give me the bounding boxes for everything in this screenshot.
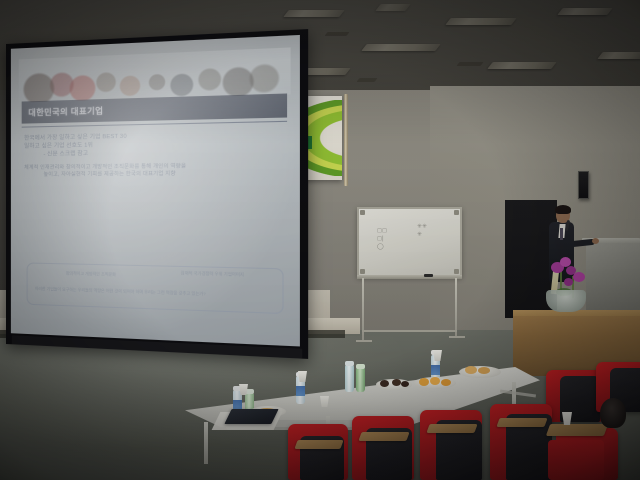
water-bottle — [356, 368, 365, 392]
flower-vase — [546, 290, 586, 312]
presentation-slide: 대한민국의 대표기업 한국에서 가장 일하고 싶은 기업 BEST 30 일하고… — [11, 35, 300, 347]
folding-tablet-arm — [294, 440, 343, 449]
whiteboard-sketch: ✳︎✳︎ ✳︎ — [417, 223, 427, 239]
whiteboard-foot — [449, 336, 465, 338]
presenter-tie — [560, 228, 563, 240]
whiteboard-corner — [360, 269, 365, 274]
presenter-hand — [592, 238, 599, 244]
callout-line: 이러한 기업들이 요구하는 우리들의 역량은 어떤 것이 되어야 하며 우리는 … — [35, 286, 206, 298]
bottle-label — [296, 386, 305, 396]
whiteboard-leg — [455, 278, 457, 336]
slide-title: 대한민국의 대표기업 — [21, 104, 103, 118]
ceiling-light-fixture — [375, 4, 410, 11]
fruit-food — [419, 378, 429, 386]
seated-attendee-head — [600, 398, 626, 428]
slide-callout-box: 창의적이고 개방적인 조직문화 잠재적 국가경쟁력 우위 기업이미지 이러한 기… — [27, 262, 284, 313]
folding-tablet-arm — [496, 418, 547, 427]
ceiling-light-fixture — [445, 18, 516, 25]
bottle-cap — [356, 364, 365, 369]
slide-bullet: 높이고, 자아실현적 기회를 제공하는 한국의 대표기업 지향 — [24, 169, 284, 178]
slide-body: 한국에서 가장 일하고 싶은 기업 BEST 30 일하고 싶은 기업 선호도 … — [24, 129, 284, 178]
callout-line: 잠재적 국가경쟁력 우위 기업이미지 — [181, 270, 244, 278]
flower-bloom — [573, 272, 585, 282]
whiteboard-corner — [454, 210, 459, 215]
dessert-food — [392, 379, 401, 386]
projection-screen: 대한민국의 대표기업 한국에서 가장 일하고 싶은 기업 BEST 30 일하고… — [6, 29, 308, 359]
notebook — [224, 409, 278, 424]
wall-speaker — [578, 171, 589, 199]
ceiling-light-fixture — [283, 10, 344, 17]
whiteboard-marker-tray — [357, 275, 462, 279]
bottle-cap — [345, 361, 354, 366]
ceiling-vent — [456, 62, 483, 66]
dessert-food — [401, 381, 409, 387]
dessert-food — [380, 380, 389, 387]
whiteboard-sketch: ◻︎◻︎ ◻︎| ◯ — [377, 227, 387, 251]
ceiling-vent — [356, 78, 377, 82]
whiteboard-crossbar — [362, 330, 457, 332]
whiteboard-corner — [454, 269, 459, 274]
folding-tablet-arm — [358, 432, 409, 441]
flower-bloom — [564, 278, 573, 286]
whiteboard-foot — [356, 340, 372, 342]
ceiling-vent — [324, 32, 349, 36]
ceiling-light-fixture — [361, 44, 440, 51]
fruit-food — [430, 377, 440, 385]
projection-screen-surface: 대한민국의 대표기업 한국에서 가장 일하고 싶은 기업 BEST 30 일하고… — [11, 35, 300, 347]
ceiling-light-fixture — [557, 8, 612, 15]
ceiling-light-fixture — [597, 52, 640, 59]
water-bottle — [345, 365, 354, 392]
bottle-label — [431, 365, 440, 375]
whiteboard: ◻︎◻︎ ◻︎| ◯ ✳︎✳︎ ✳︎ — [357, 207, 462, 277]
whiteboard-corner — [360, 210, 365, 215]
folding-tablet-arm — [426, 424, 477, 433]
cookie-food — [465, 366, 477, 374]
fruit-food — [441, 379, 451, 386]
banner-pole — [344, 94, 348, 186]
ceiling-light-fixture — [487, 62, 556, 69]
table-leg — [204, 422, 208, 464]
presenter-hair — [555, 205, 571, 214]
lecture-hall-photo: 수회 전략토론 환경공학과 대한민국의 대표기업 한국에서 가장 일하고 싶은 … — [0, 0, 640, 480]
folding-tablet-arm — [546, 424, 608, 436]
whiteboard-marker — [424, 274, 433, 277]
cookie-food — [478, 367, 490, 374]
callout-line: 창의적이고 개방적인 조직문화 — [66, 271, 116, 278]
